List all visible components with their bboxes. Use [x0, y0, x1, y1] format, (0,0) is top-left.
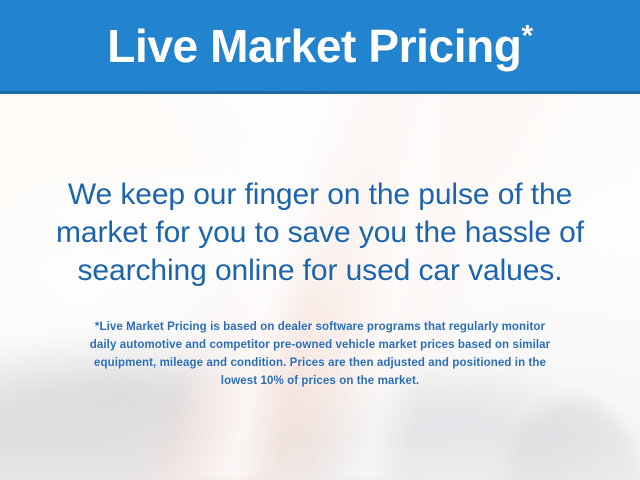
fineprint-line-4: lowest 10% of prices on the market. [0, 372, 640, 390]
banner-title-asterisk: * [521, 19, 532, 52]
banner-title: Live Market Pricing* [107, 23, 533, 69]
banner-underline [0, 91, 640, 94]
headline-block: We keep our finger on the pulse of the m… [0, 176, 640, 290]
fineprint-line-2: daily automotive and competitor pre-owne… [0, 336, 640, 354]
live-market-pricing-slide: Live Market Pricing* We keep our finger … [0, 0, 640, 480]
header-banner: Live Market Pricing* [0, 0, 640, 91]
headline-line-2: market for you to save you the hassle of [0, 214, 640, 252]
headline-line-1: We keep our finger on the pulse of the [0, 176, 640, 214]
fineprint-block: *Live Market Pricing is based on dealer … [0, 318, 640, 390]
banner-title-text: Live Market Pricing [107, 20, 521, 72]
fineprint-line-1: *Live Market Pricing is based on dealer … [0, 318, 640, 336]
headline-line-3: searching online for used car values. [0, 252, 640, 290]
fineprint-line-3: equipment, mileage and condition. Prices… [0, 354, 640, 372]
